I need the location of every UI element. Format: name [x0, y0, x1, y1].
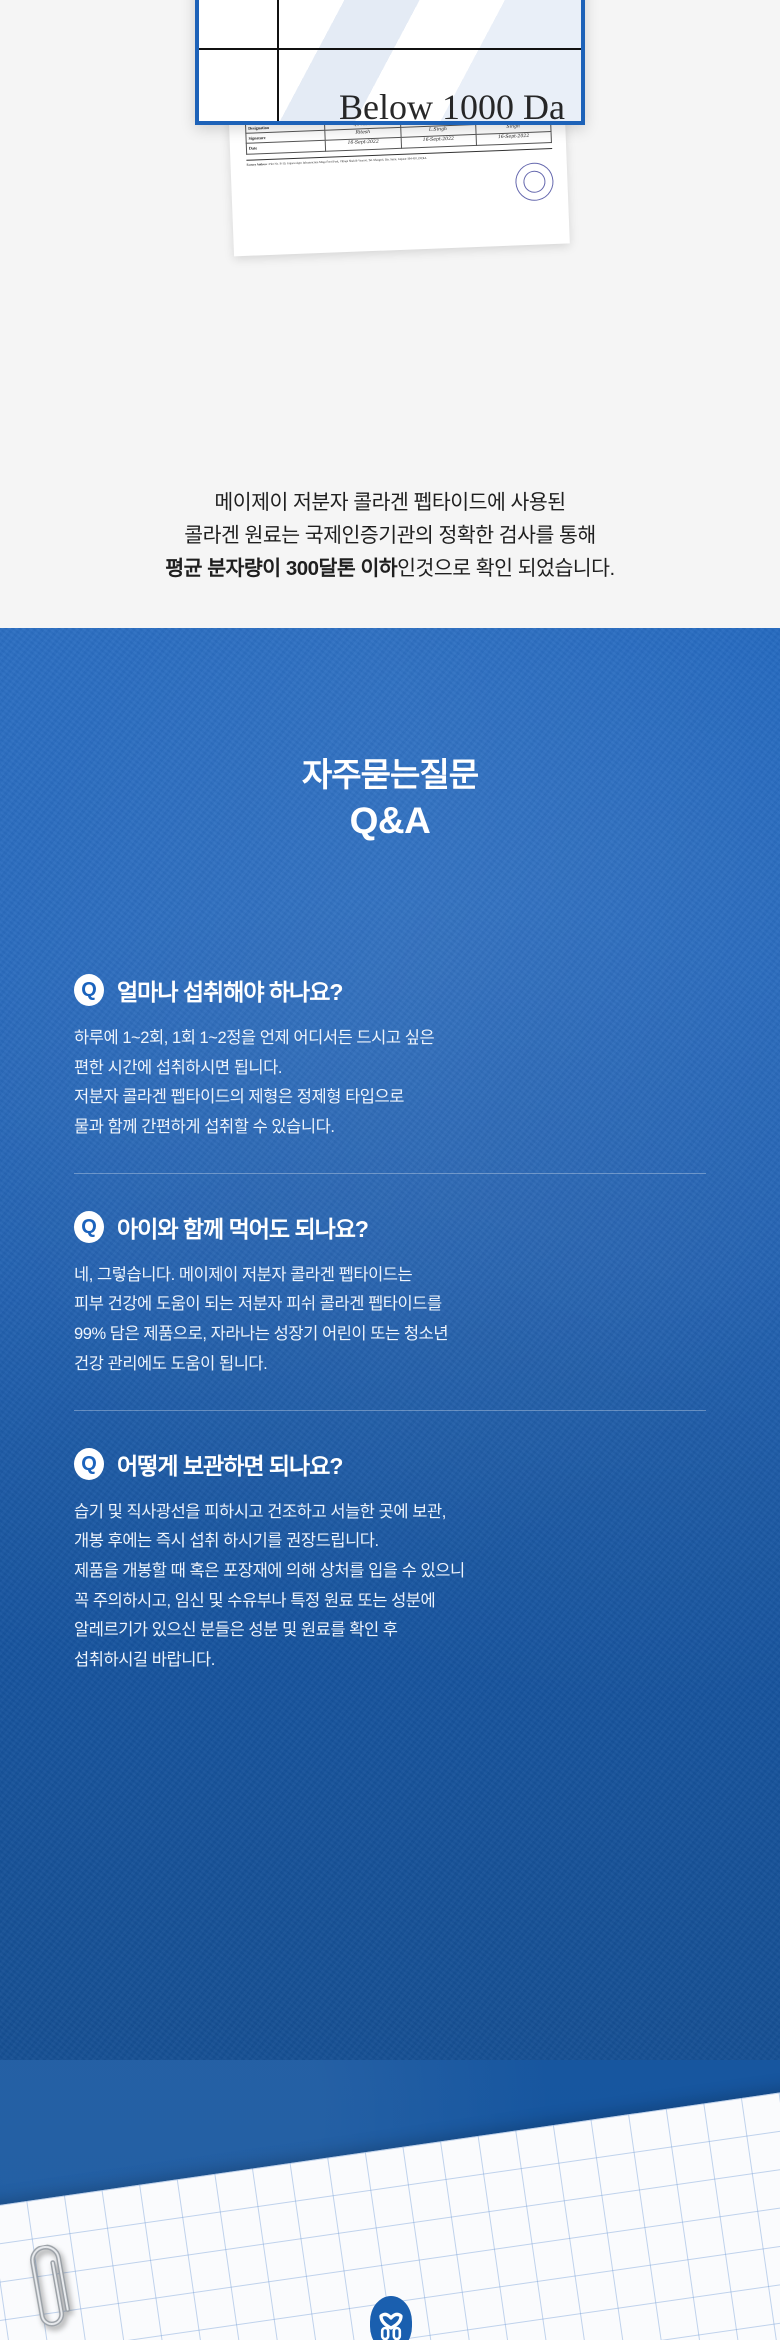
- footer-section: [0, 2060, 780, 2340]
- faq-item-3[interactable]: Q 어떻게 보관하면 되나요? 습기 및 직사광선을 피하시고 건조하고 서늘한…: [0, 1447, 780, 1676]
- logo-glyph-icon: [377, 2307, 405, 2340]
- faq-question-text: 어떻게 보관하면 되나요?: [117, 1447, 342, 1481]
- date-value: 16-Sept-2022: [325, 138, 401, 151]
- faq-answer-text: 네, 그렇습니다. 메이제이 저분자 콜라겐 펩타이드는 피부 건강에 도움이 …: [74, 1261, 706, 1380]
- factory-address-label: Factory Address :: [246, 161, 268, 166]
- faq-item-1[interactable]: Q 얼마나 섭취해야 하나요? 하루에 1~2회, 1회 1~2정을 언제 어디…: [0, 973, 780, 1143]
- row-label: Date: [246, 140, 326, 153]
- callout-line-below-1000-da: Below 1000 Da: [339, 86, 565, 125]
- caption-line-3: 평균 분자량이 300달톤 이하인것으로 확인 되었습니다.: [0, 552, 780, 585]
- question-badge-icon: Q: [74, 1211, 104, 1243]
- caption-line-1: 메이제이 저분자 콜라겐 펩타이드에 사용된: [0, 486, 780, 519]
- brand-logo-mark: [370, 2296, 412, 2340]
- caption-block: 메이제이 저분자 콜라겐 펩타이드에 사용된 콜라겐 원료는 국제인증기관의 정…: [0, 486, 780, 586]
- spacer: [0, 1174, 780, 1210]
- caption-line-3-bold: 평균 분자량이 300달톤 이하: [165, 557, 397, 580]
- faq-question-text: 얼마나 섭취해야 하나요?: [117, 973, 342, 1007]
- faq-item-2[interactable]: Q 아이와 함께 먹어도 되나요? 네, 그렇습니다. 메이제이 저분자 콜라겐…: [0, 1210, 780, 1380]
- faq-question-row[interactable]: Q 어떻게 보관하면 되나요?: [74, 1447, 706, 1481]
- question-badge-icon: Q: [74, 1448, 104, 1480]
- certificate-section: 3. Cadmium (Cd) Below 0.5 ppm <0.5 ppm 4…: [0, 0, 780, 628]
- caption-line-2: 콜라겐 원료는 국제인증기관의 정확한 검사를 통해: [0, 519, 780, 552]
- faq-subtitle: Q&A: [0, 800, 780, 842]
- faq-answer-text: 습기 및 직사광선을 피하시고 건조하고 서늘한 곳에 보관, 개봉 후에는 즉…: [74, 1498, 706, 1676]
- callout-horizontal-rule: [199, 48, 581, 50]
- faq-question-text: 아이와 함께 먹어도 되나요?: [117, 1210, 368, 1244]
- factory-address-text: Plot No. B-19, Gujarat Agro Infrastructu…: [269, 155, 427, 165]
- faq-answer-text: 하루에 1~2회, 1회 1~2정을 언제 어디서든 드시고 싶은 편한 시간에…: [74, 1024, 706, 1143]
- faq-list: Q 얼마나 섭취해야 하나요? 하루에 1~2회, 1회 1~2정을 언제 어디…: [0, 973, 780, 1676]
- faq-title: 자주묻는질문: [0, 748, 780, 796]
- faq-section: 자주묻는질문 Q&A Q 얼마나 섭취해야 하나요? 하루에 1~2회, 1회 …: [0, 628, 780, 2060]
- faq-question-row[interactable]: Q 아이와 함께 먹어도 되나요?: [74, 1210, 706, 1244]
- magnified-callout: ) More than 95% Below 300 Da Below 1000 …: [195, 0, 585, 125]
- spacer: [0, 1411, 780, 1447]
- caption-line-3-rest: 인것으로 확인 되었습니다.: [397, 557, 615, 580]
- faq-question-row[interactable]: Q 얼마나 섭취해야 하나요?: [74, 973, 706, 1007]
- date-value: 16-Sept-2022: [401, 135, 477, 148]
- question-badge-icon: Q: [74, 974, 104, 1006]
- date-value: 16-Sept-2022: [476, 132, 552, 145]
- callout-vertical-rule: [277, 0, 279, 121]
